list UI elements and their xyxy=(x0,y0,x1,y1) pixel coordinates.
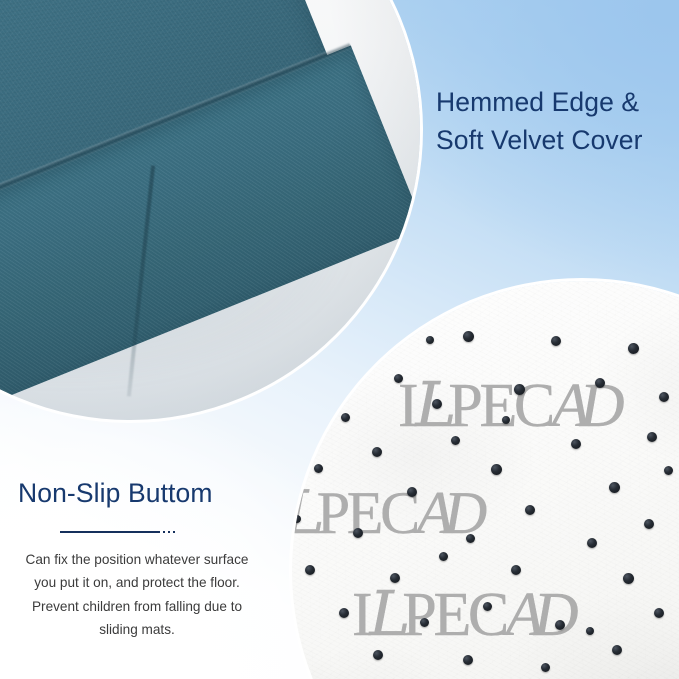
mat-grip-dots-layer xyxy=(292,281,679,679)
mat-grip-dot xyxy=(451,436,460,445)
mat-grip-dot xyxy=(609,482,620,493)
mat-grip-dot xyxy=(628,343,639,354)
mat-grip-dot xyxy=(407,487,417,497)
mat-grip-dot xyxy=(305,565,315,575)
mat-grip-dot xyxy=(372,447,382,457)
mat-grip-dot xyxy=(586,627,594,635)
body-line: Can fix the position whatever surface xyxy=(8,548,266,571)
mat-grip-dot xyxy=(623,573,634,584)
mat-grip-dot xyxy=(463,655,473,665)
mat-grip-dot xyxy=(514,384,525,395)
non-slip-feature-block: Non-Slip Buttom Can fix the position wha… xyxy=(8,478,266,641)
mat-grip-dot xyxy=(394,374,403,383)
non-slip-heading: Non-Slip Buttom xyxy=(8,478,266,510)
mat-grip-dot xyxy=(390,573,400,583)
mat-grip-dot xyxy=(659,392,669,402)
mat-grip-dot xyxy=(511,565,521,575)
mat-grip-dot xyxy=(353,528,363,538)
mat-grip-dot xyxy=(373,650,383,660)
mat-grip-dot xyxy=(525,505,535,515)
mat-grip-dot xyxy=(324,356,332,364)
mat-grip-dot xyxy=(432,399,442,409)
non-slip-body-text: Can fix the position whatever surfaceyou… xyxy=(8,548,266,642)
heading-line-2: Soft Velvet Cover xyxy=(436,122,679,160)
mat-grip-dot xyxy=(647,432,657,442)
mat-grip-dot xyxy=(314,464,323,473)
mat-photo-circle: ILPECADILPECADILPECAD xyxy=(292,281,679,679)
divider-dotted-tail xyxy=(163,531,178,533)
mat-grip-dot xyxy=(463,331,474,342)
body-line: Prevent children from falling due to xyxy=(8,595,266,618)
mat-grip-dot xyxy=(644,519,654,529)
mat-grip-dot xyxy=(664,466,673,475)
mat-grip-dot xyxy=(612,645,622,655)
divider-solid-line xyxy=(60,531,160,533)
mat-grip-dot xyxy=(654,608,664,618)
mat-grip-dot xyxy=(551,336,561,346)
mat-grip-dot xyxy=(466,534,475,543)
mat-grip-dot xyxy=(502,416,510,424)
mat-grip-dot xyxy=(483,602,492,611)
mat-grip-dot xyxy=(439,552,448,561)
product-feature-infographic: ILPECADILPECADILPECAD Hemmed Edge & Soft… xyxy=(0,0,679,679)
mat-grip-dot xyxy=(341,413,350,422)
hemmed-edge-heading: Hemmed Edge & Soft Velvet Cover xyxy=(436,84,679,159)
mat-grip-dot xyxy=(491,464,502,475)
divider xyxy=(8,524,266,542)
mat-grip-dot xyxy=(339,608,349,618)
heading-line-1: Hemmed Edge & xyxy=(436,84,679,122)
body-line: you put it on, and protect the floor. xyxy=(8,571,266,594)
mat-grip-dot xyxy=(595,378,605,388)
mat-grip-dot xyxy=(293,515,301,523)
mat-grip-dot xyxy=(420,618,429,627)
mat-grip-dot xyxy=(555,620,565,630)
body-line: sliding mats. xyxy=(8,618,266,641)
mat-grip-dot xyxy=(426,336,434,344)
mat-grip-dot xyxy=(571,439,581,449)
mat-grip-dot xyxy=(541,663,550,672)
mat-grip-dot xyxy=(587,538,597,548)
